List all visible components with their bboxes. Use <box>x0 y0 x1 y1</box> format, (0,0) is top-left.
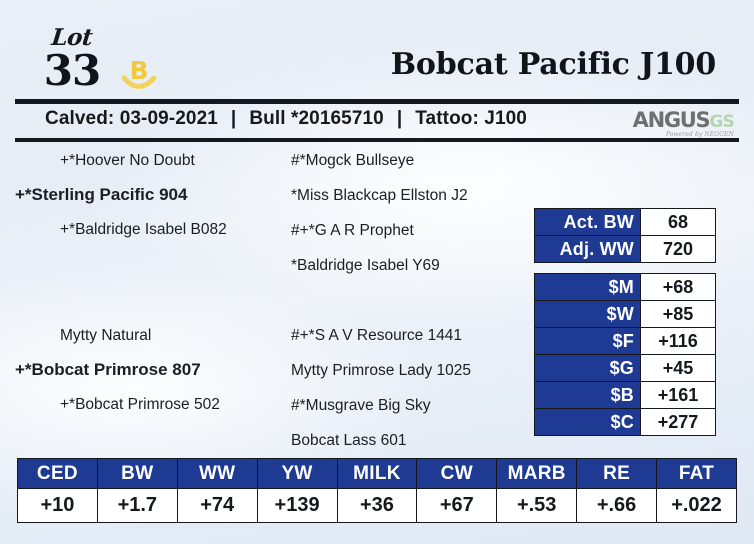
pedigree-sire-granddam: +*Baldridge Isabel B082 <box>60 221 227 239</box>
stat-key-dollar-f: $F <box>535 328 641 355</box>
epd-table-container: CED BW WW YW MILK CW MARB RE FAT +10 +1.… <box>17 458 737 523</box>
info-separator-2: | <box>384 108 415 130</box>
page-title: Bobcat Pacific J100 <box>391 48 716 82</box>
epd-value-cw: +67 <box>417 489 497 523</box>
table-row: Act. BW 68 <box>535 209 716 236</box>
stat-key-dollar-w: $W <box>535 301 641 328</box>
epd-header-row: CED BW WW YW MILK CW MARB RE FAT <box>18 459 737 489</box>
lot-number: 33 <box>28 49 116 93</box>
stat-key-dollar-c: $C <box>535 409 641 436</box>
table-row: $G +45 <box>535 355 716 382</box>
pedigree-dam-great-4: Bobcat Lass 601 <box>291 432 406 450</box>
stat-value-dollar-b: +161 <box>641 382 716 409</box>
pedigree-chart: +*Hoover No Doubt +*Sterling Pacific 904… <box>0 142 540 458</box>
calved-date: Calved: 03-09-2021 <box>45 108 218 129</box>
svg-text:B: B <box>129 56 148 85</box>
epd-header-ced: CED <box>18 459 98 489</box>
stat-value-adj-ww: 720 <box>641 236 716 263</box>
stat-key-adj-ww: Adj. WW <box>535 236 641 263</box>
epd-value-bw: +1.7 <box>97 489 177 523</box>
info-separator-1: | <box>218 108 249 130</box>
stat-value-act-bw: 68 <box>641 209 716 236</box>
pedigree-dam-great-2: Mytty Primrose Lady 1025 <box>291 362 471 380</box>
dollar-values-table: $M +68 $W +85 $F +116 $G +45 $B +161 <box>534 273 716 436</box>
table-row: Adj. WW 720 <box>535 236 716 263</box>
epd-header-yw: YW <box>257 459 337 489</box>
epd-value-re: +.66 <box>577 489 657 523</box>
angus-gs-logo: ANGUSGS Powered by NEOGEN <box>622 110 734 138</box>
stat-key-dollar-g: $G <box>535 355 641 382</box>
stat-key-dollar-b: $B <box>535 382 641 409</box>
b-badge-icon: B <box>118 54 160 94</box>
epd-value-marb: +.53 <box>497 489 577 523</box>
measurements-table: Act. BW 68 Adj. WW 720 <box>534 208 716 263</box>
stat-key-dollar-m: $M <box>535 274 641 301</box>
epd-value-ced: +10 <box>18 489 98 523</box>
info-bar: Calved: 03-09-2021|Bull *20165710|Tattoo… <box>15 104 739 138</box>
stat-value-dollar-w: +85 <box>641 301 716 328</box>
pedigree-sire-grandsire: +*Hoover No Doubt <box>60 152 195 170</box>
pedigree-sire-great-2: *Miss Blackcap Ellston J2 <box>291 187 468 205</box>
epd-header-cw: CW <box>417 459 497 489</box>
pedigree-sire: +*Sterling Pacific 904 <box>15 186 187 204</box>
registration-number: Bull *20165710 <box>249 108 384 129</box>
stat-value-dollar-g: +45 <box>641 355 716 382</box>
table-row: $M +68 <box>535 274 716 301</box>
epd-value-milk: +36 <box>337 489 417 523</box>
lot-catalog-page: Lot 33 B Bobcat Pacific J100 Calved: 03-… <box>0 0 754 544</box>
lot-identifier: Lot 33 <box>28 26 116 93</box>
pedigree-dam-great-3: #*Musgrave Big Sky <box>291 397 431 415</box>
tattoo: Tattoo: J100 <box>415 108 527 129</box>
table-row: $C +277 <box>535 409 716 436</box>
epd-header-fat: FAT <box>657 459 737 489</box>
lot-label: Lot <box>27 26 117 49</box>
stat-value-dollar-c: +277 <box>641 409 716 436</box>
pedigree-sire-great-4: *Baldridge Isabel Y69 <box>291 257 440 275</box>
stat-value-dollar-m: +68 <box>641 274 716 301</box>
epd-value-row: +10 +1.7 +74 +139 +36 +67 +.53 +.66 +.02… <box>18 489 737 523</box>
stats-spacer <box>534 263 716 273</box>
stat-value-dollar-f: +116 <box>641 328 716 355</box>
epd-header-milk: MILK <box>337 459 417 489</box>
epd-header-bw: BW <box>97 459 177 489</box>
pedigree-dam-granddam: +*Bobcat Primrose 502 <box>60 396 220 414</box>
table-row: $W +85 <box>535 301 716 328</box>
table-row: $B +161 <box>535 382 716 409</box>
epd-value-yw: +139 <box>257 489 337 523</box>
pedigree-dam-great-1: #+*S A V Resource 1441 <box>291 327 462 345</box>
stat-key-act-bw: Act. BW <box>535 209 641 236</box>
pedigree-dam-grandsire: Mytty Natural <box>60 327 151 345</box>
pedigree-sire-great-1: #*Mogck Bullseye <box>291 152 414 170</box>
animal-details: Calved: 03-09-2021|Bull *20165710|Tattoo… <box>45 108 527 130</box>
epd-table: CED BW WW YW MILK CW MARB RE FAT +10 +1.… <box>17 458 737 523</box>
epd-header-ww: WW <box>177 459 257 489</box>
epd-value-fat: +.022 <box>657 489 737 523</box>
epd-value-ww: +74 <box>177 489 257 523</box>
angus-gs-suffix: GS <box>709 114 734 131</box>
epd-header-re: RE <box>577 459 657 489</box>
pedigree-dam: +*Bobcat Primrose 807 <box>15 361 201 379</box>
epd-header-marb: MARB <box>497 459 577 489</box>
page-header: Lot 33 B Bobcat Pacific J100 <box>0 0 754 100</box>
table-row: $F +116 <box>535 328 716 355</box>
stats-panel: Act. BW 68 Adj. WW 720 $M +68 $W +85 <box>534 208 716 436</box>
pedigree-sire-great-3: #+*G A R Prophet <box>291 222 414 240</box>
angus-wordmark: ANGUS <box>633 110 710 131</box>
